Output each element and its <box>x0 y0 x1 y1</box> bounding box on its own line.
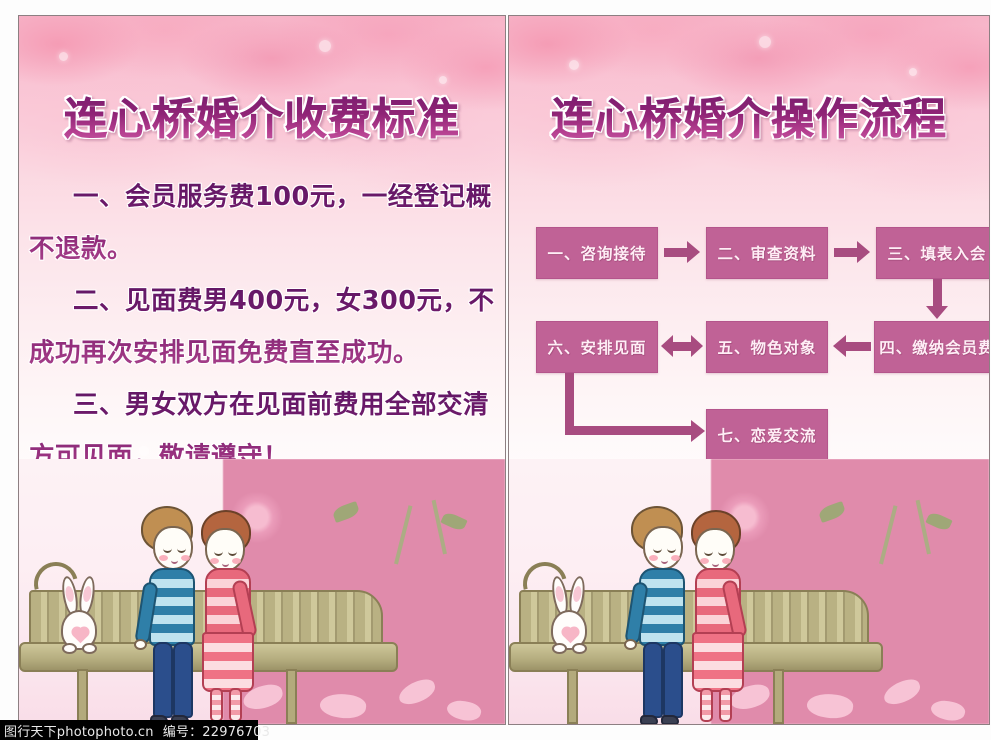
boy-blush <box>181 555 190 561</box>
fee-rule-item: 二、见面费男400元，女300元，不成功再次安排见面免费直至成功。 <box>19 275 505 379</box>
flow-step-1[interactable]: 一、咨询接待 <box>536 227 658 279</box>
rabbit-ear-inner <box>554 585 565 602</box>
boy-blush <box>671 555 680 561</box>
bokeh-sparkle <box>909 68 917 76</box>
boy-torso <box>149 568 195 646</box>
bokeh-sparkle <box>759 36 771 48</box>
girl-skirt <box>692 632 744 692</box>
poster-canvas: 连心桥婚介收费标准 一、会员服务费100元，一经登记概不退款。 二、见面费男40… <box>0 0 991 740</box>
flow-step-7[interactable]: 七、恋爱交流 <box>706 409 828 461</box>
flow-step-6[interactable]: 六、安排见面 <box>536 321 658 373</box>
flow-step-5[interactable]: 五、物色对象 <box>706 321 828 373</box>
arrow-step6-to-step7-icon <box>565 373 705 435</box>
panel-fee-standard: 连心桥婚介收费标准 一、会员服务费100元，一经登记概不退款。 二、见面费男40… <box>18 15 506 725</box>
girl-leg <box>719 688 732 722</box>
page-title-left: 连心桥婚介收费标准 <box>19 94 505 146</box>
rabbit-foot <box>572 643 587 654</box>
bench-leg <box>77 669 88 724</box>
girl-eye <box>228 551 237 556</box>
arrow-step1-to-step2-icon <box>664 241 700 263</box>
boy-leg <box>153 642 173 718</box>
page-title-right: 连心桥婚介操作流程 <box>509 94 989 146</box>
rabbit-foot <box>552 643 567 654</box>
boy-face <box>153 526 193 570</box>
arrow-step2-to-step3-icon <box>834 241 870 263</box>
girl-blush <box>722 558 731 564</box>
flow-step-4[interactable]: 四、缴纳会员费 <box>874 321 990 373</box>
bench-leg <box>286 669 297 724</box>
arrow-step4-to-step5-icon <box>833 335 871 357</box>
rabbit-foot <box>62 643 77 654</box>
boy-blush <box>159 555 168 561</box>
boy-leg <box>643 642 663 718</box>
boy-hand <box>624 639 637 650</box>
watermark-id: 编号：22976703 <box>163 721 270 740</box>
rabbit-ear-inner <box>64 585 75 602</box>
girl-leg <box>700 688 713 722</box>
watermark-bar: 图行天下photophoto.cn 编号：22976703 <box>0 720 258 740</box>
girl-face <box>695 528 735 572</box>
boy-leg <box>663 642 683 718</box>
rabbit-ear-inner <box>572 585 582 602</box>
boy-shoe <box>661 715 679 724</box>
boy-leg <box>173 642 193 718</box>
boy-blush <box>649 555 658 561</box>
boy-eye <box>667 548 676 553</box>
operation-flowchart: 一、咨询接待 二、审查资料 三、填表入会 六、安排见面 五、物色对象 四、缴纳 <box>509 211 990 486</box>
bokeh-sparkle <box>319 40 331 52</box>
boy-mouth <box>661 559 668 564</box>
girl-blush <box>700 558 709 564</box>
rabbit-foot <box>82 643 97 654</box>
watermark-site: 图行天下photophoto.cn <box>4 721 154 740</box>
flow-step-2[interactable]: 二、审查资料 <box>706 227 828 279</box>
girl-face <box>205 528 245 572</box>
boy-torso <box>639 568 685 646</box>
fee-rules-list: 一、会员服务费100元，一经登记概不退款。 二、见面费男400元，女300元，不… <box>19 171 505 483</box>
girl-blush <box>210 558 219 564</box>
girl-blush <box>232 558 241 564</box>
girl-eye <box>214 551 223 556</box>
fee-rule-item: 一、会员服务费100元，一经登记概不退款。 <box>19 171 505 275</box>
boy-hand <box>134 639 147 650</box>
girl-leg <box>229 688 242 722</box>
artwork-right <box>509 459 989 724</box>
artwork-left <box>19 459 505 724</box>
girl-eye <box>704 551 713 556</box>
boy-face <box>643 526 683 570</box>
boy-mouth <box>171 559 178 564</box>
bench-leg <box>773 669 784 724</box>
panel-operation-flow: 连心桥婚介操作流程 一、咨询接待 二、审查资料 三、填表入会 六、安排见面 五、… <box>508 15 990 725</box>
rabbit-ear-inner <box>82 585 92 602</box>
girl-eye <box>718 551 727 556</box>
bokeh-sparkle <box>59 52 68 61</box>
boy-eye <box>177 548 186 553</box>
boy-shoe <box>640 715 658 724</box>
bokeh-sparkle <box>439 76 447 84</box>
arrow-step5-step6-both-icon <box>661 335 703 357</box>
boy-eye <box>653 548 662 553</box>
flow-step-3[interactable]: 三、填表入会 <box>876 227 990 279</box>
girl-skirt <box>202 632 254 692</box>
girl-mouth <box>222 562 229 567</box>
arrow-step3-to-step4-icon <box>925 279 949 319</box>
bokeh-sparkle <box>569 60 579 70</box>
bench-leg <box>567 669 578 724</box>
boy-eye <box>163 548 172 553</box>
girl-leg <box>210 688 223 722</box>
girl-mouth <box>712 562 719 567</box>
